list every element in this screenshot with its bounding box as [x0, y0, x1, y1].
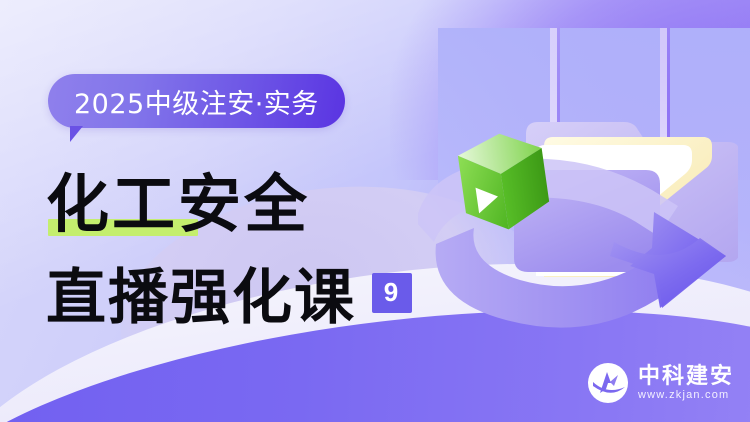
headline-line-1: 化工安全 — [46, 154, 310, 245]
episode-number-badge: 9 — [372, 273, 412, 313]
headline-line-2: 直播强化课 — [46, 249, 356, 336]
course-promo-banner: 2025中级注安·实务 化工安全 直播强化课 9 中科建安 www.zkjan.… — [0, 0, 750, 422]
headline-line-2-row: 直播强化课 9 — [46, 249, 412, 336]
text-content: 2025中级注安·实务 化工安全 直播强化课 9 — [0, 0, 430, 422]
brand-url: www.zkjan.com — [638, 390, 734, 401]
course-category-badge: 2025中级注安·实务 — [48, 74, 345, 128]
brand-logo: 中科建安 www.zkjan.com — [587, 362, 734, 404]
brand-logo-text: 中科建安 www.zkjan.com — [638, 366, 734, 401]
course-category-label: 2025中级注安·实务 — [74, 82, 319, 121]
brand-name: 中科建安 — [638, 366, 734, 388]
course-illustration — [418, 92, 738, 342]
zkjan-circle-icon — [587, 362, 629, 404]
course-category-badge-tail — [70, 126, 94, 142]
